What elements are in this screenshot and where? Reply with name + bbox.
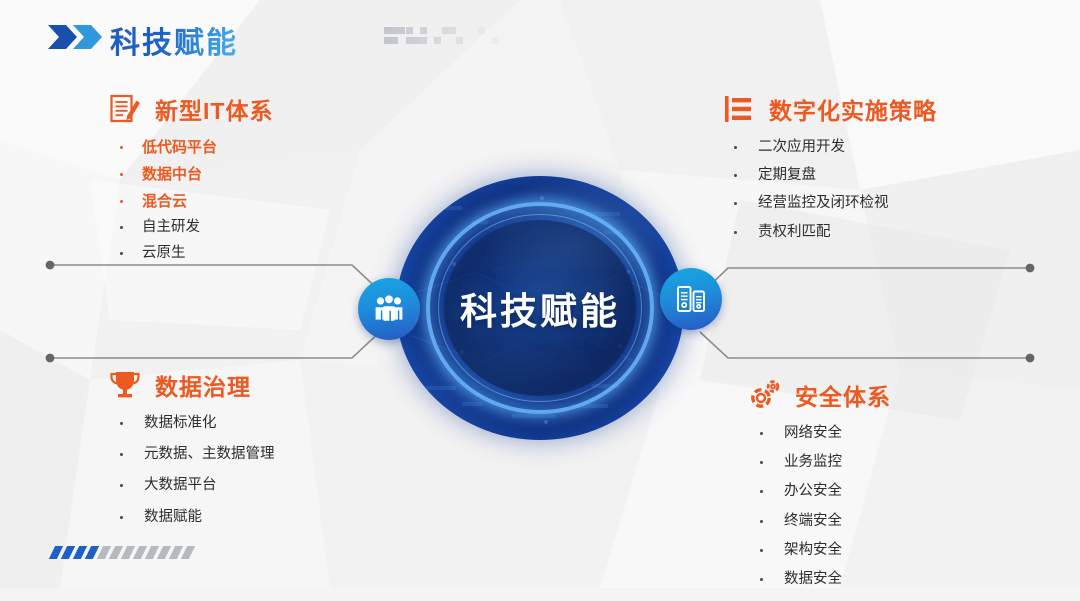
node-people[interactable] xyxy=(358,278,420,340)
section-header: 数据治理 xyxy=(108,368,388,402)
hub-label: 科技赋能 xyxy=(396,176,684,440)
section-title: 数字化实施策略 xyxy=(769,92,937,126)
section-data-governance: 数据治理 数据标准化 元数据、主数据管理 大数据平台 数据赋能 xyxy=(108,368,388,541)
section-header: 安全体系 xyxy=(748,378,1028,412)
list-item: 经营监控及闭环检视 xyxy=(722,196,1022,211)
list-item: 混合云 xyxy=(108,194,388,210)
list-item: 自主研发 xyxy=(108,220,388,235)
center-hub: 科技赋能 xyxy=(378,176,702,440)
list-item: 元数据、主数据管理 xyxy=(108,447,388,462)
connector-endpoint-dot xyxy=(1026,354,1035,363)
section-header: 数字化实施策略 xyxy=(722,92,1022,126)
list-item: 二次应用开发 xyxy=(722,140,1022,155)
section-title: 安全体系 xyxy=(795,378,891,412)
document-edit-icon xyxy=(108,92,142,126)
people-group-icon xyxy=(372,292,406,326)
connector-endpoint-dot xyxy=(1026,264,1035,273)
list-item: 大数据平台 xyxy=(108,478,388,493)
list-item: 业务监控 xyxy=(748,455,1028,470)
section-list: 二次应用开发 定期复盘 经营监控及闭环检视 责权利匹配 xyxy=(722,140,1022,240)
section-header: 新型IT体系 xyxy=(108,92,388,126)
connector-endpoint-dot xyxy=(46,354,55,363)
list-item: 数据标准化 xyxy=(108,416,388,431)
server-rack-icon xyxy=(674,282,708,316)
section-title: 新型IT体系 xyxy=(155,92,273,126)
dot-grid-decoration xyxy=(384,27,494,49)
section-new-it-system: 新型IT体系 低代码平台 数据中台 混合云 自主研发 云原生 xyxy=(108,92,388,273)
gears-icon xyxy=(748,378,782,412)
node-server[interactable] xyxy=(660,268,722,330)
section-list: 网络安全 业务监控 办公安全 终端安全 架构安全 数据安全 xyxy=(748,426,1028,587)
list-item: 责权利匹配 xyxy=(722,225,1022,240)
page-title: 科技赋能 xyxy=(110,18,238,62)
trophy-icon xyxy=(108,368,142,402)
list-menu-icon xyxy=(722,92,756,126)
section-digital-strategy: 数字化实施策略 二次应用开发 定期复盘 经营监控及闭环检视 责权利匹配 xyxy=(722,92,1022,253)
list-item: 网络安全 xyxy=(748,426,1028,441)
list-item: 终端安全 xyxy=(748,514,1028,529)
list-item: 数据安全 xyxy=(748,572,1028,587)
section-security-system: 安全体系 网络安全 业务监控 办公安全 终端安全 架构安全 数据安全 xyxy=(748,378,1028,601)
list-item: 办公安全 xyxy=(748,484,1028,499)
diagonal-slashes-decoration xyxy=(52,546,202,560)
list-item: 架构安全 xyxy=(748,543,1028,558)
list-item: 数据中台 xyxy=(108,167,388,183)
section-list: 低代码平台 数据中台 混合云 自主研发 云原生 xyxy=(108,140,388,262)
list-item: 云原生 xyxy=(108,246,388,261)
section-title: 数据治理 xyxy=(155,368,251,402)
list-item: 低代码平台 xyxy=(108,140,388,156)
header: 科技赋能 xyxy=(0,0,1080,72)
connector-endpoint-dot xyxy=(46,261,55,270)
section-list: 数据标准化 元数据、主数据管理 大数据平台 数据赋能 xyxy=(108,416,388,525)
double-chevron-right-icon xyxy=(46,22,104,52)
list-item: 数据赋能 xyxy=(108,510,388,525)
list-item: 定期复盘 xyxy=(722,168,1022,183)
